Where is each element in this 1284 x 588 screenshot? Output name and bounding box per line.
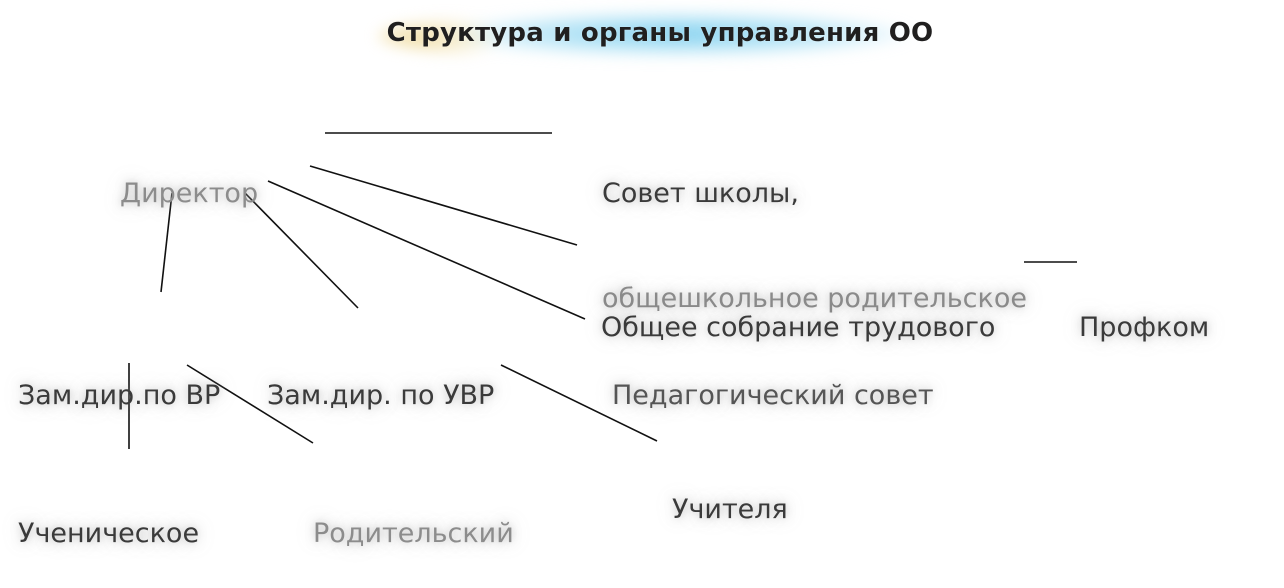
node-trade-union: Профком — [1079, 240, 1209, 415]
node-director: Директор — [120, 106, 258, 281]
diagram-canvas: Структура и органы управления ОО Директо… — [0, 0, 1284, 588]
connector-director-to-pedagogical-council — [268, 181, 585, 319]
page-title-text: Структура и органы управления ОО — [360, 18, 960, 48]
connector-director-to-labor-assembly — [310, 166, 577, 245]
page-title: Структура и органы управления ОО — [360, 6, 960, 68]
node-subject-teachers: Учителя предметники — [672, 422, 864, 588]
node-parent-committee: Родительский комитет — [313, 446, 514, 588]
connector-director-to-deputy-uvr — [244, 192, 358, 308]
node-student-government: Ученическое самоуправление — [18, 446, 255, 588]
